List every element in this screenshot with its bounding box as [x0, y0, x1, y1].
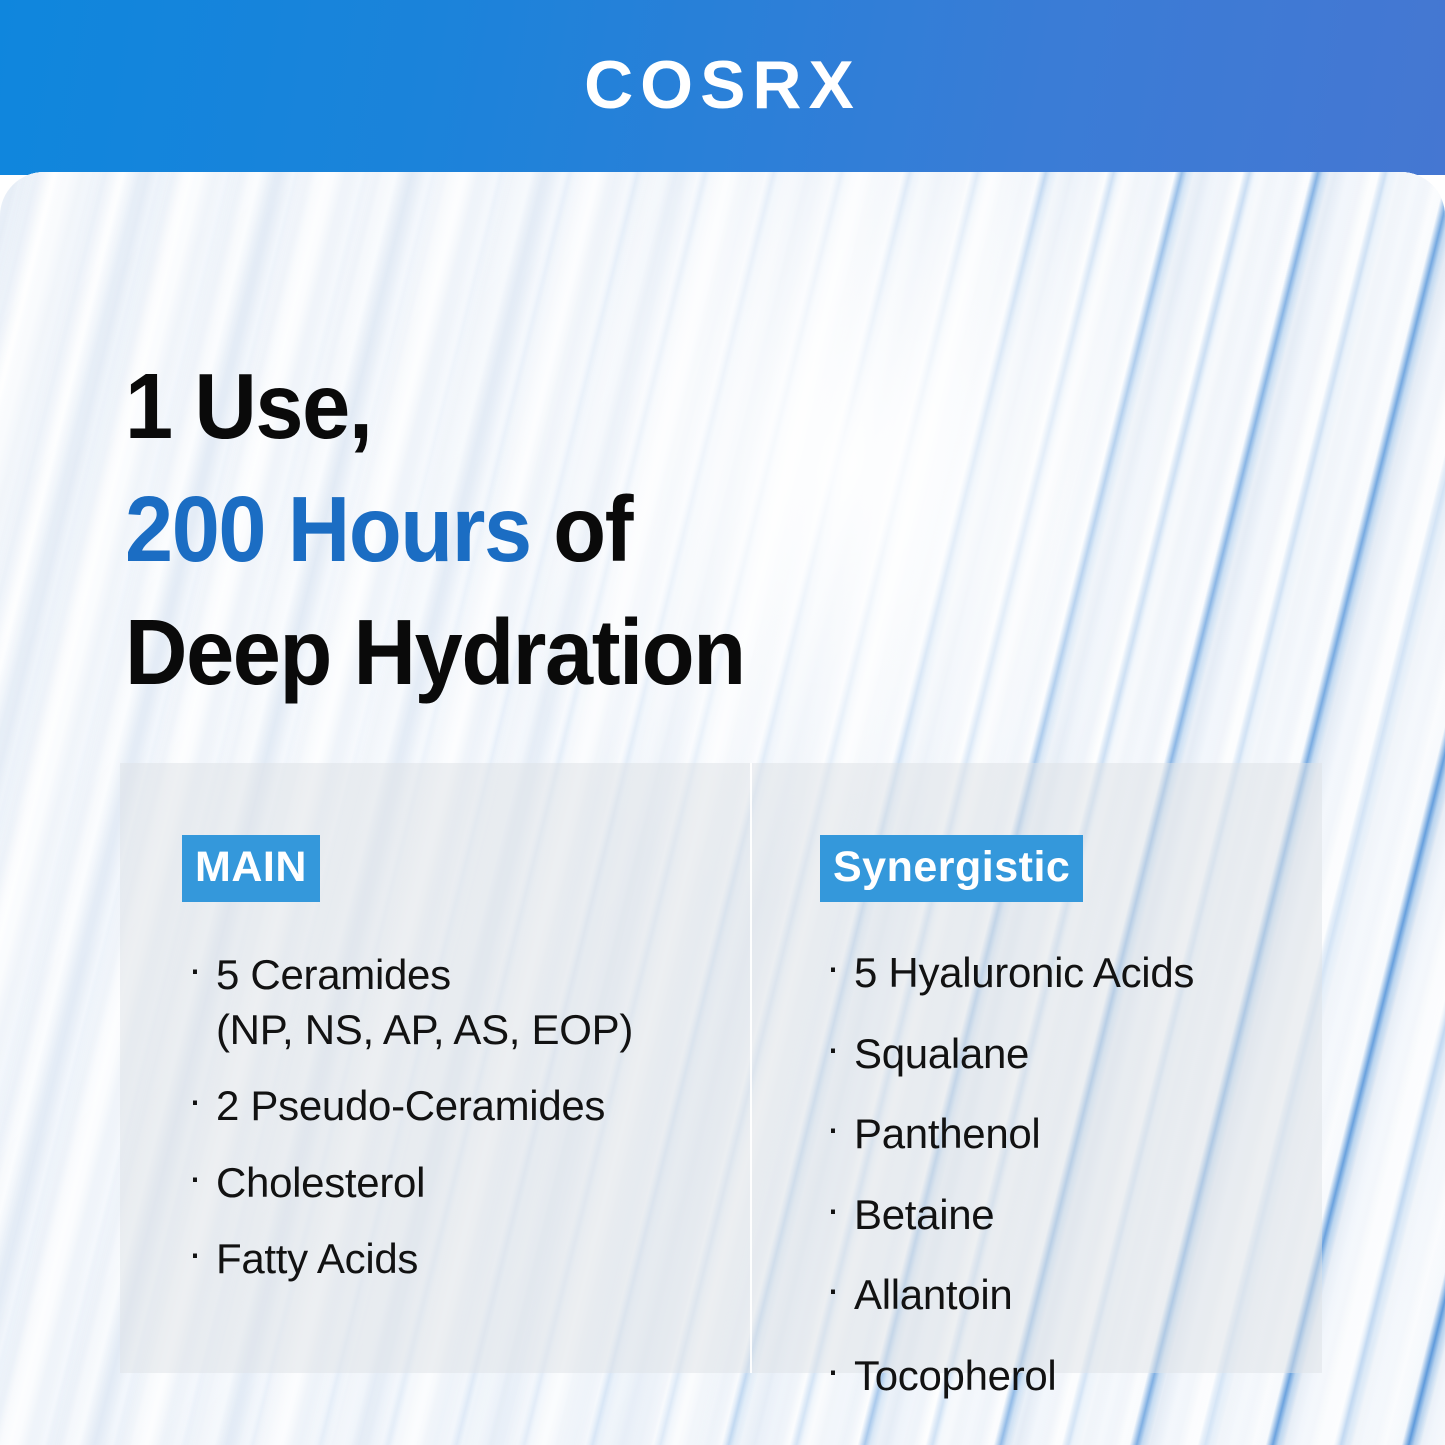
- ingredient-list-synergistic: 5 Hyaluronic Acids Squalane Panthenol Be…: [820, 946, 1322, 1404]
- list-item: Cholesterol: [182, 1156, 750, 1211]
- label-main: MAIN: [182, 835, 320, 902]
- ingredient-panel: MAIN 5 Ceramides (NP, NS, AP, AS, EOP) 2…: [120, 763, 1322, 1373]
- page-title: 1 Use, 200 Hours of Deep Hydration: [125, 345, 962, 713]
- list-item: Fatty Acids: [182, 1232, 750, 1287]
- list-item: Squalane: [820, 1027, 1322, 1082]
- label-synergistic: Synergistic: [820, 835, 1083, 902]
- list-item: Tocopherol: [820, 1349, 1322, 1404]
- list-item: 5 Hyaluronic Acids: [820, 946, 1322, 1001]
- headline-accent: 200 Hours: [125, 477, 531, 581]
- headline-line-3: Deep Hydration: [125, 591, 962, 714]
- headline-line-1: 1 Use,: [125, 345, 962, 468]
- ingredient-column-synergistic: Synergistic 5 Hyaluronic Acids Squalane …: [750, 763, 1322, 1373]
- ingredient-list-main: 5 Ceramides (NP, NS, AP, AS, EOP) 2 Pseu…: [182, 948, 750, 1287]
- headline-line-2: 200 Hours of: [125, 468, 962, 591]
- list-item: Panthenol: [820, 1107, 1322, 1162]
- list-item: 2 Pseudo-Ceramides: [182, 1079, 750, 1134]
- ingredient-column-main: MAIN 5 Ceramides (NP, NS, AP, AS, EOP) 2…: [120, 763, 750, 1373]
- list-item: Betaine: [820, 1188, 1322, 1243]
- list-item: 5 Ceramides (NP, NS, AP, AS, EOP): [182, 948, 750, 1057]
- brand-header: COSRX: [0, 0, 1445, 175]
- cosrx-logo: COSRX: [584, 51, 861, 119]
- headline-line-2-rest: of: [531, 477, 632, 581]
- list-item: Allantoin: [820, 1268, 1322, 1323]
